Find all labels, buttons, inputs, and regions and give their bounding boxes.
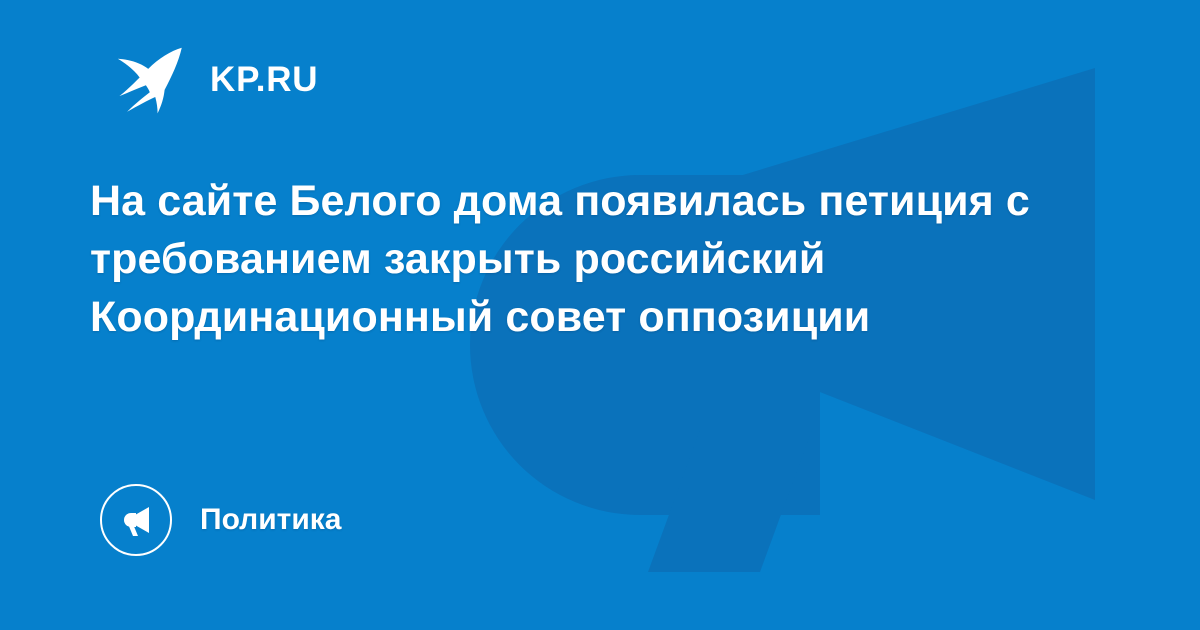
category-label: Политика — [200, 505, 341, 535]
category-badge — [100, 484, 172, 556]
megaphone-icon — [116, 500, 156, 540]
brand-name[interactable]: KP.RU — [210, 62, 318, 97]
category-tag[interactable]: Политика — [100, 484, 341, 556]
swallow-bird-icon — [110, 40, 188, 118]
article-headline: На сайте Белого дома появилась петиция с… — [90, 172, 1040, 346]
site-header: KP.RU — [110, 36, 318, 122]
share-card: KP.RU На сайте Белого дома появилась пет… — [0, 0, 1200, 630]
